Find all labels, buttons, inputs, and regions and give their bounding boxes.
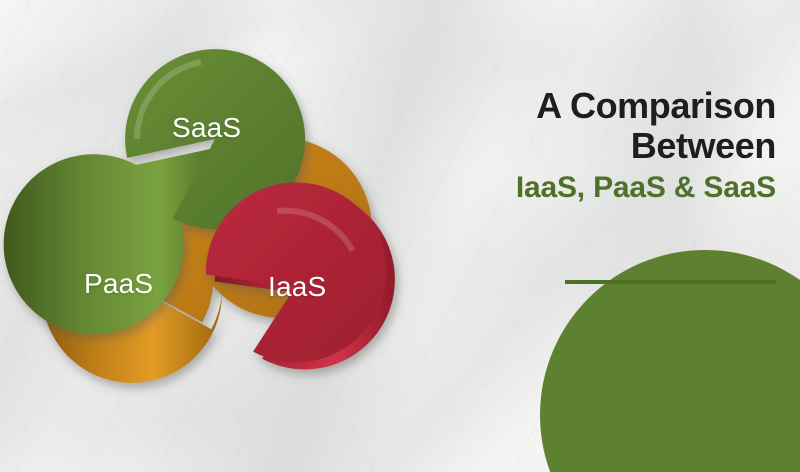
venn-label-saas: SaaS: [172, 112, 241, 144]
venn-diagram: SaaS PaaS IaaS: [0, 0, 430, 430]
headline-line-1: A Comparison: [356, 88, 776, 125]
headline-line-2: Between: [356, 128, 776, 165]
headline-line-3-accent: IaaS, PaaS & SaaS: [356, 173, 776, 204]
green-rule-divider: [565, 280, 776, 284]
venn-label-paas: PaaS: [84, 268, 153, 300]
venn-label-iaas: IaaS: [268, 271, 326, 303]
headline-block: A Comparison Between IaaS, PaaS & SaaS: [356, 88, 776, 204]
poster-canvas: SaaS PaaS IaaS A Comparison Between IaaS…: [0, 0, 800, 472]
